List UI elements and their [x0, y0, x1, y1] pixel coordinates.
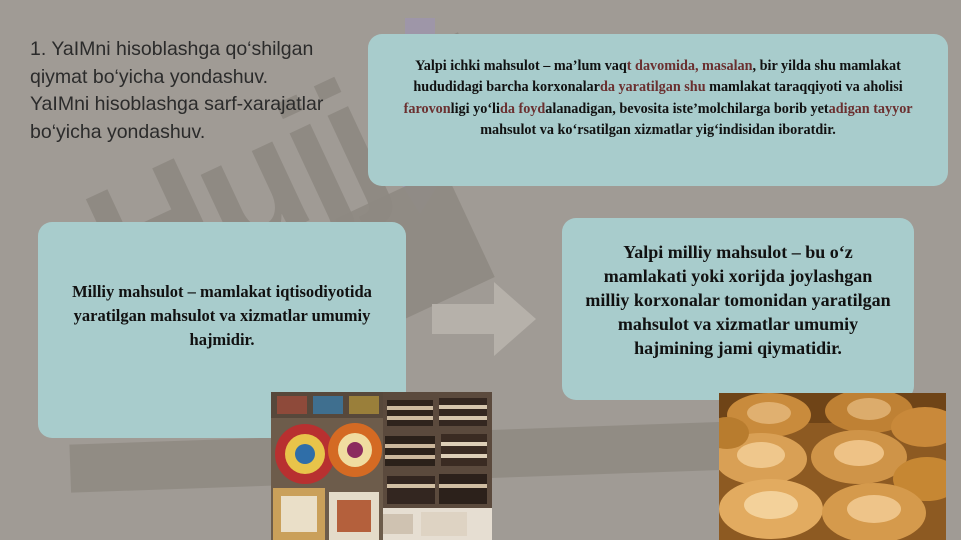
gross-national-product-box: Yalpi milliy mahsulot – bu o‘z mamlakati… [562, 218, 914, 400]
slide: Hujjat 1. YaIMni hisoblashga qo‘shilgan … [0, 0, 961, 540]
photo-uzbek-bread [719, 393, 946, 540]
gdp-definition-text: Yalpi ichki mahsulot – ma’lum vaqt davom… [404, 58, 913, 138]
photo-textiles-and-cakes [271, 392, 492, 540]
national-product-text: Milliy mahsulot – mamlakat iqtisodiyotid… [72, 282, 372, 349]
page-title: 1. YaIMni hisoblashga qo‘shilgan qiymat … [30, 36, 330, 147]
right-arrow-icon [432, 282, 536, 356]
gdp-definition-box: Yalpi ichki mahsulot – ma’lum vaqt davom… [368, 34, 948, 186]
gross-national-product-text: Yalpi milliy mahsulot – bu o‘z mamlakati… [585, 242, 890, 358]
